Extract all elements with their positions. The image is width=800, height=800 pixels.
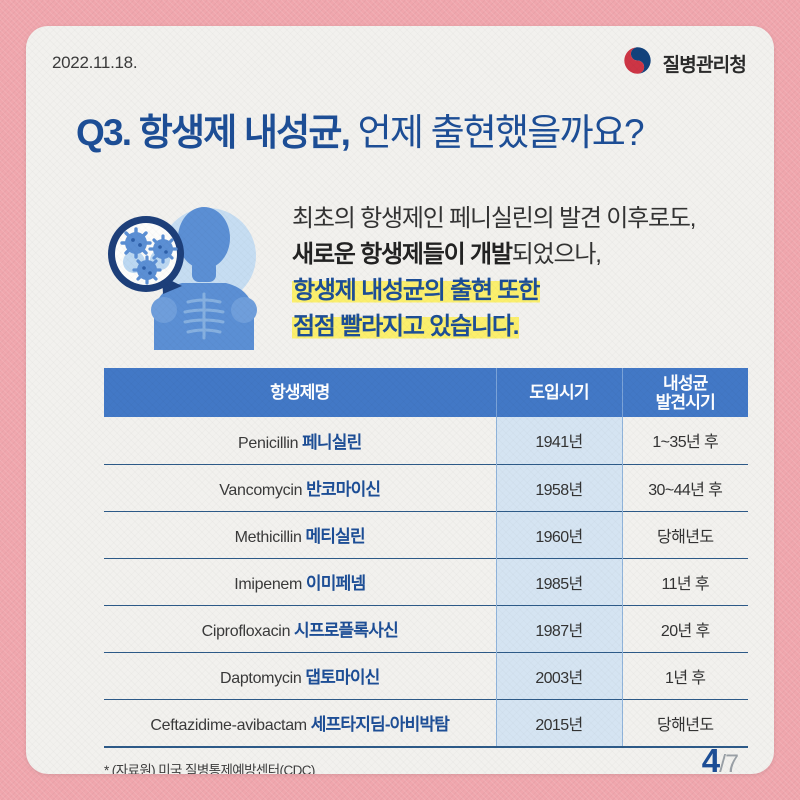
cell-drug-name: Imipenem 이미페넴 — [104, 558, 496, 605]
column-header-resistance-line2: 발견시기 — [656, 393, 715, 412]
table-row: Ciprofloxacin 시프로플록사신 1987년 20년 후 — [104, 605, 748, 652]
drug-name-en: Methicillin — [235, 529, 302, 546]
body-copy-line-highlighted: 항생제 내성균의 출현 또한 — [292, 274, 762, 310]
cell-introduced: 1960년 — [496, 511, 622, 558]
human-torso-with-bacteria-magnifier-icon — [100, 198, 280, 350]
cell-resistance: 20년 후 — [622, 605, 748, 652]
body-copy-segment: 점점 빨라지고 있습니다. — [292, 313, 519, 340]
drug-name-ko: 댑토마이신 — [305, 668, 379, 687]
cell-resistance: 11년 후 — [622, 558, 748, 605]
cell-drug-name: Ceftazidime-avibactam 세프타지딤-아비박탐 — [104, 699, 496, 746]
organization-name: 질병관리청 — [663, 50, 746, 77]
cell-drug-name: Vancomycin 반코마이신 — [104, 464, 496, 511]
body-copy-line: 최초의 항생제인 페니실린의 발견 이후로도, — [292, 202, 762, 238]
page-title-light: 언제 출현했을까요? — [349, 112, 643, 153]
page-total: /7 — [719, 750, 738, 774]
drug-name-en: Imipenem — [234, 576, 302, 593]
table-bottom-rule — [104, 746, 748, 748]
page-current: 4 — [702, 742, 719, 774]
cell-resistance: 당해년도 — [622, 511, 748, 558]
organization-brand: 질병관리청 — [621, 44, 746, 82]
antibiotic-timeline-table: 항생제명 도입시기 내성균 발견시기 Penicillin 페니실린 1941년… — [104, 368, 748, 748]
body-copy: 최초의 항생제인 페니실린의 발견 이후로도, 새로운 항생제들이 개발되었으나… — [292, 202, 762, 346]
body-copy-line-highlighted: 점점 빨라지고 있습니다. — [292, 310, 762, 346]
page-title-strong: Q3. 항생제 내성균, — [76, 112, 349, 153]
cell-resistance: 당해년도 — [622, 699, 748, 746]
body-copy-segment: 새로운 항생제들이 개발 — [292, 241, 512, 268]
body-copy-segment: 항생제 내성균의 출현 또한 — [292, 277, 540, 304]
drug-name-ko: 반코마이신 — [306, 480, 380, 499]
drug-name-en: Daptomycin — [220, 670, 301, 687]
cell-resistance: 30~44년 후 — [622, 464, 748, 511]
drug-name-en: Ciprofloxacin — [202, 623, 291, 640]
cell-introduced: 1958년 — [496, 464, 622, 511]
table-row: Imipenem 이미페넴 1985년 11년 후 — [104, 558, 748, 605]
cell-introduced: 1941년 — [496, 417, 622, 464]
cell-drug-name: Ciprofloxacin 시프로플록사신 — [104, 605, 496, 652]
page-indicator: 4/7 — [702, 744, 738, 774]
page-title: Q3. 항생제 내성균, 언제 출현했을까요? — [76, 102, 736, 156]
drug-name-ko: 이미페넴 — [306, 574, 365, 593]
table-row: Methicillin 메티실린 1960년 당해년도 — [104, 511, 748, 558]
table-row: Ceftazidime-avibactam 세프타지딤-아비박탐 2015년 당… — [104, 699, 748, 746]
body-copy-line: 새로운 항생제들이 개발되었으나, — [292, 238, 762, 274]
cell-introduced: 2003년 — [496, 652, 622, 699]
body-copy-segment: 되었으나, — [512, 241, 601, 268]
column-header-introduced: 도입시기 — [496, 368, 622, 417]
column-header-resistance-line1: 내성균 — [663, 374, 708, 393]
body-copy-segment: 최초의 항생제인 페니실린의 발견 이후로도, — [292, 205, 695, 232]
card-news-slide: 2022.11.18. 질병관리청 Q3. 항생제 내성균, 언제 출현했을까요… — [26, 26, 774, 774]
drug-name-en: Vancomycin — [219, 482, 302, 499]
cell-drug-name: Methicillin 메티실린 — [104, 511, 496, 558]
cell-introduced: 1987년 — [496, 605, 622, 652]
drug-name-en: Ceftazidime-avibactam — [150, 717, 306, 734]
cell-drug-name: Penicillin 페니실린 — [104, 417, 496, 464]
kdca-taegeuk-logo-icon — [621, 44, 654, 82]
drug-name-ko: 페니실린 — [302, 433, 361, 452]
drug-name-en: Penicillin — [238, 435, 298, 452]
publish-date: 2022.11.18. — [52, 53, 137, 73]
column-header-resistance: 내성균 발견시기 — [622, 368, 748, 417]
column-header-drug-name: 항생제명 — [104, 368, 496, 417]
drug-name-ko: 시프로플록사신 — [294, 621, 398, 640]
cell-introduced: 1985년 — [496, 558, 622, 605]
table-row: Vancomycin 반코마이신 1958년 30~44년 후 — [104, 464, 748, 511]
table-header-row: 항생제명 도입시기 내성균 발견시기 — [104, 368, 748, 417]
cell-drug-name: Daptomycin 댑토마이신 — [104, 652, 496, 699]
table-row: Penicillin 페니실린 1941년 1~35년 후 — [104, 417, 748, 464]
table-row: Daptomycin 댑토마이신 2003년 1년 후 — [104, 652, 748, 699]
drug-name-ko: 세프타지딤-아비박탐 — [311, 715, 449, 734]
cell-resistance: 1년 후 — [622, 652, 748, 699]
cell-resistance: 1~35년 후 — [622, 417, 748, 464]
cell-introduced: 2015년 — [496, 699, 622, 746]
header-bar: 2022.11.18. 질병관리청 — [26, 26, 774, 100]
drug-name-ko: 메티실린 — [305, 527, 364, 546]
source-note: * (자료원) 미국 질병통제예방센터(CDC) — [104, 759, 315, 774]
